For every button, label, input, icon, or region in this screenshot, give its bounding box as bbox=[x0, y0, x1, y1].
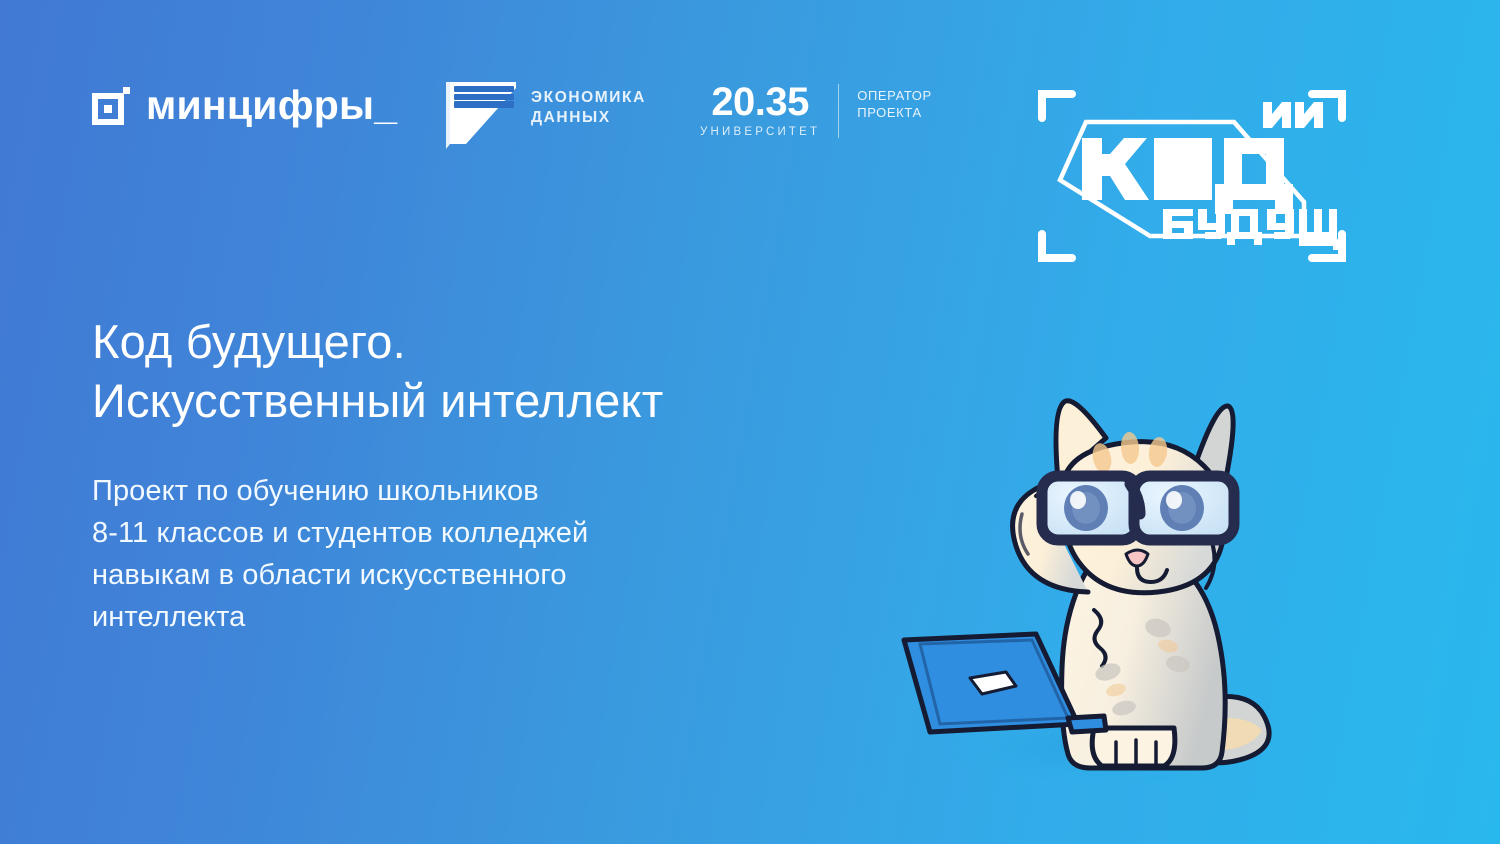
headline-line-1: Код будущего. bbox=[92, 312, 852, 371]
page-subtitle: Проект по обучению школьников 8-11 класс… bbox=[92, 470, 792, 638]
logo-divider bbox=[838, 84, 839, 138]
university-number: 20.35 bbox=[711, 82, 809, 122]
cat-mascot-illustration bbox=[890, 372, 1340, 792]
operator-line-2: ПРОЕКТА bbox=[857, 104, 932, 121]
subtitle-line-3: навыкам в области искусственного bbox=[92, 554, 792, 596]
flag-line-1: НАЦИОНАЛЬНЫЕ bbox=[454, 86, 514, 92]
page-title: Код будущего. Искусственный интеллект bbox=[92, 312, 852, 430]
project-operator-label: ОПЕРАТОР ПРОЕКТА bbox=[857, 82, 932, 121]
operator-line-1: ОПЕРАТОР bbox=[857, 87, 932, 104]
mincifry-square-mark bbox=[92, 87, 130, 125]
laptop-base bbox=[1068, 716, 1106, 732]
subtitle-line-2: 8-11 классов и студентов колледжей bbox=[92, 512, 792, 554]
cat-front-paws bbox=[1092, 728, 1175, 766]
badge-word-budushego bbox=[1163, 209, 1341, 250]
kod-budushego-badge bbox=[1036, 84, 1348, 268]
university-subtitle: УНИВЕРСИТЕТ bbox=[700, 125, 820, 139]
header-logo-row: минцифры_ НАЦИОНАЛЬНЫЕ ПРОЕКТЫ РОССИИ ЭК… bbox=[0, 0, 1500, 180]
national-projects-flag-icon: НАЦИОНАЛЬНЫЕ ПРОЕКТЫ РОССИИ bbox=[440, 80, 518, 152]
econ-line-1: ЭКОНОМИКА bbox=[531, 88, 646, 108]
flag-line-3: РОССИИ bbox=[454, 101, 514, 107]
badge-superscript-ii bbox=[1263, 102, 1323, 128]
badge-word-kod bbox=[1082, 138, 1293, 214]
econ-line-2: ДАННЫХ bbox=[531, 108, 646, 128]
cat-nose bbox=[1126, 550, 1148, 566]
subtitle-line-1: Проект по обучению школьников bbox=[92, 470, 792, 512]
headline-line-2: Искусственный интеллект bbox=[92, 371, 852, 430]
university-2035-logo: 20.35 УНИВЕРСИТЕТ ОПЕРАТОР ПРОЕКТА bbox=[700, 82, 932, 139]
ekonomika-dannykh-title: ЭКОНОМИКА ДАННЫХ bbox=[531, 80, 646, 128]
goggles-icon bbox=[1042, 476, 1234, 540]
mincifry-logo: минцифры_ bbox=[92, 85, 397, 126]
subtitle-line-4: интеллекта bbox=[92, 596, 792, 638]
mincifry-wordmark: минцифры_ bbox=[146, 85, 397, 126]
flag-line-2: ПРОЕКТЫ bbox=[454, 94, 514, 100]
national-projects-logo: НАЦИОНАЛЬНЫЕ ПРОЕКТЫ РОССИИ ЭКОНОМИКА ДА… bbox=[440, 80, 646, 152]
